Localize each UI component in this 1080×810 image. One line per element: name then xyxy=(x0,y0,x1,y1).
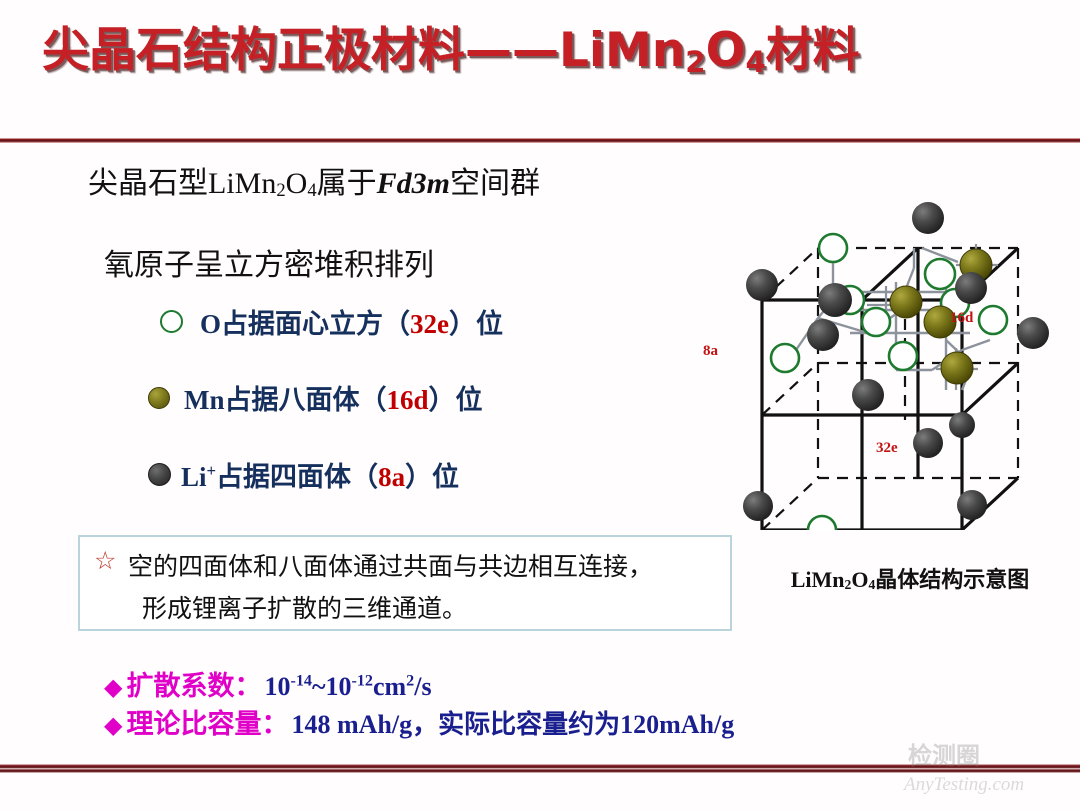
oxygen-atom xyxy=(808,516,836,530)
figure-caption: LiMn2O4晶体结构示意图 xyxy=(760,562,1060,594)
bullet-lithium-text: Li+占据四面体（8a）位 xyxy=(181,455,459,494)
footer-divider-rule xyxy=(0,764,1080,773)
bullet-oxygen-site-code: 32e xyxy=(410,309,449,339)
diamond-bullet-icon: ◆ xyxy=(104,676,122,700)
caption-lead: LiMn xyxy=(791,567,845,592)
caption-tail: 晶体结构示意图 xyxy=(875,567,1029,592)
bullet-oxygen-pre: O占据面心立方（ xyxy=(200,309,410,339)
diffusion-exp-b: -12 xyxy=(351,672,372,689)
title-divider-rule xyxy=(0,138,1080,143)
space-group-o: O xyxy=(286,167,308,200)
caption-sub-4: 4 xyxy=(868,577,875,592)
site-label-8a: 8a xyxy=(703,343,718,360)
lithium-atom xyxy=(746,269,778,301)
oxygen-atom xyxy=(862,308,890,336)
slide-canvas: 尖晶石结构正极材料——LiMn2O4材料 尖晶石型LiMn2O4属于Fd3m空间… xyxy=(0,0,1080,810)
diffusion-range: ~10 xyxy=(312,672,352,701)
diamond-bullet-icon: ◆ xyxy=(104,714,122,738)
space-group-tail: 空间群 xyxy=(450,167,540,200)
space-group-symbol: Fd3m xyxy=(377,167,450,200)
lithium-atom xyxy=(957,490,987,520)
diffusion-unit-pre: cm xyxy=(373,672,406,701)
oxygen-packing-line: 氧原子呈立方密堆积排列 xyxy=(104,240,434,284)
site-label-16d: 16d xyxy=(950,310,973,327)
space-group-belongs: 属于 xyxy=(317,167,377,200)
lithium-atom xyxy=(807,319,839,351)
bullet-manganese-pre: Mn占据八面体（ xyxy=(184,385,387,415)
site-label-32e: 32e xyxy=(876,440,898,457)
caption-o: O xyxy=(851,567,868,592)
title-formula-sub-4: 4 xyxy=(746,45,766,79)
spec-capacity-label: 理论比容量： xyxy=(126,702,288,741)
bullet-lithium-post: ）位 xyxy=(405,462,459,492)
lithium-atom xyxy=(1017,317,1049,349)
bullet-manganese-site: Mn占据八面体（16d）位 xyxy=(148,378,483,417)
lithium-sphere-icon xyxy=(148,463,171,486)
space-group-sub-4: 4 xyxy=(307,180,316,201)
lithium-atom xyxy=(949,412,975,438)
space-group-lead: 尖晶石型LiMn xyxy=(88,167,276,200)
oxygen-circle-icon xyxy=(160,310,183,333)
lithium-atom xyxy=(852,379,884,411)
bullet-oxygen-text: O占据面心立方（32e）位 xyxy=(200,302,503,341)
space-group-sub-2: 2 xyxy=(276,180,285,201)
note-text-line-1: 空的四面体和八面体通过共面与共边相互连接， xyxy=(128,547,653,583)
title-block: 尖晶石结构正极材料——LiMn2O4材料 xyxy=(0,18,1080,108)
page-title: 尖晶石结构正极材料——LiMn2O4材料 xyxy=(42,18,860,89)
lithium-atom xyxy=(818,283,852,317)
bullet-lithium-charge: + xyxy=(207,461,217,480)
oxygen-atom xyxy=(979,306,1007,334)
caption-sub-2: 2 xyxy=(845,577,852,592)
lithium-atom xyxy=(955,272,987,304)
lithium-atom xyxy=(912,202,944,234)
oxygen-atom xyxy=(889,342,917,370)
bullet-lithium-site: Li+占据四面体（8a）位 xyxy=(148,455,459,494)
title-suffix: 材料 xyxy=(766,23,860,78)
oxygen-atom xyxy=(925,259,955,289)
bullet-manganese-site-code: 16d xyxy=(387,385,429,415)
watermark-english-text: AnyTesting.com xyxy=(904,774,1024,796)
spec-diffusion-label: 扩散系数： xyxy=(126,664,261,703)
spec-diffusion-value: 10-14~10-12cm2/s xyxy=(264,672,431,702)
bullet-lithium-pre: 占据四面体（ xyxy=(216,462,378,492)
lithium-atom xyxy=(913,428,943,458)
spec-diffusion-coefficient: ◆ 扩散系数： 10-14~10-12cm2/s xyxy=(104,664,432,703)
crystal-structure-diagram xyxy=(700,190,1070,530)
title-formula-lead: LiMn xyxy=(559,23,685,78)
manganese-sphere-icon xyxy=(148,387,170,409)
bullet-oxygen-site: O占据面心立方（32e）位 xyxy=(160,302,503,341)
bullet-manganese-text: Mn占据八面体（16d）位 xyxy=(184,378,483,417)
title-prefix: 尖晶石结构正极材料—— xyxy=(42,23,559,78)
bullet-lithium-symbol: Li xyxy=(181,462,207,492)
note-callout-box: ☆ 空的四面体和八面体通过共面与共边相互连接， 形成锂离子扩散的三维通道。 xyxy=(78,535,732,631)
diffusion-exp-a: -14 xyxy=(290,672,311,689)
title-formula-o: O xyxy=(706,23,746,78)
spec-capacity-value: 148 mAh/g，实际比容量约为120mAh/g xyxy=(291,704,734,741)
note-text-line-2: 形成锂离子扩散的三维通道。 xyxy=(142,589,467,625)
spec-theoretical-capacity: ◆ 理论比容量： 148 mAh/g，实际比容量约为120mAh/g xyxy=(104,702,734,741)
oxygen-atom xyxy=(771,344,799,372)
space-group-line: 尖晶石型LiMn2O4属于Fd3m空间群 xyxy=(88,158,540,202)
star-icon: ☆ xyxy=(94,549,116,574)
lithium-atom xyxy=(743,491,773,521)
bullet-lithium-site-code: 8a xyxy=(378,462,405,492)
bullet-manganese-post: ）位 xyxy=(429,385,483,415)
title-formula-sub-2: 2 xyxy=(685,45,705,79)
bullet-oxygen-post: ）位 xyxy=(449,309,503,339)
oxygen-atom xyxy=(819,234,847,262)
manganese-atom xyxy=(941,352,973,384)
manganese-atom xyxy=(890,286,922,318)
diffusion-unit-post: /s xyxy=(414,672,431,701)
diffusion-base-a: 10 xyxy=(264,672,290,701)
